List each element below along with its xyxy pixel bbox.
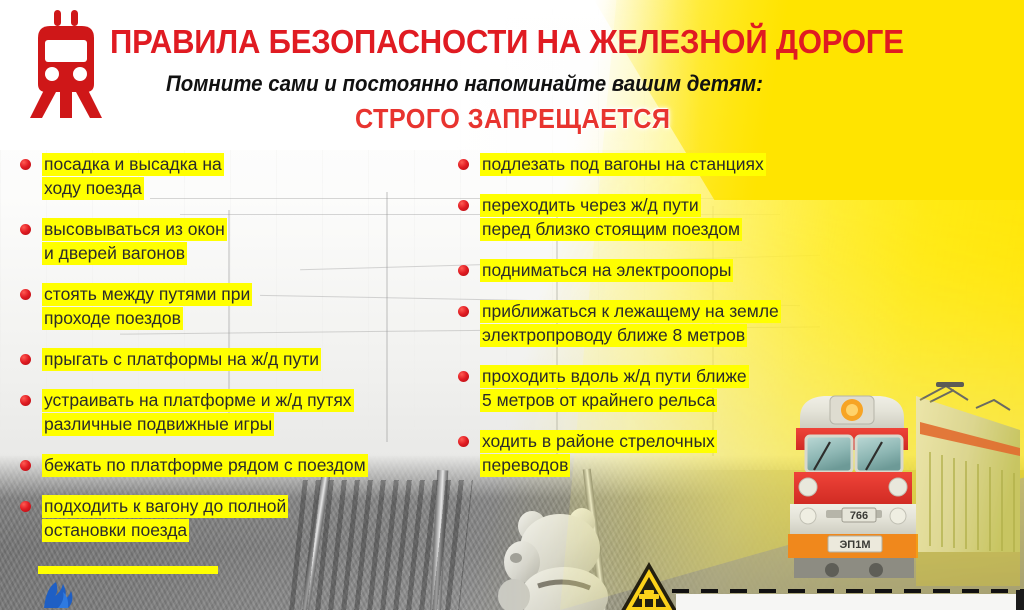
rule-text-line: перед близко стоящим поездом — [480, 217, 872, 241]
rule-text-highlight: ходу поезда — [42, 177, 144, 200]
rules-area: посадка и высадка находу поездавысовыват… — [0, 152, 1024, 592]
rule-text-line: переводов — [480, 453, 872, 477]
bullet-icon — [458, 371, 469, 382]
rule-text-highlight: и дверей вагонов — [42, 242, 187, 265]
rule-text-line: стоять между путями при — [42, 282, 454, 306]
rule-text-highlight: прыгать с платформы на ж/д пути — [42, 348, 321, 371]
prohibition-banner: СТРОГО ЗАПРЕЩАЕТСЯ — [355, 102, 670, 136]
rule-item: посадка и высадка находу поезда — [14, 152, 454, 200]
rule-item: переходить через ж/д путиперед близко ст… — [452, 193, 872, 241]
rule-text-line: устраивать на платформе и ж/д путях — [42, 388, 454, 412]
rule-text-highlight: посадка и высадка на — [42, 153, 224, 176]
rule-text-line: высовываться из окон — [42, 217, 454, 241]
rule-item: высовываться из окони дверей вагонов — [14, 217, 454, 265]
railway-crossing-warning-triangle-icon — [618, 560, 680, 610]
rule-text-highlight: бежать по платформе рядом с поездом — [42, 454, 368, 477]
rule-text-line: подлезать под вагоны на станциях — [480, 152, 872, 176]
rule-text-line: проходить вдоль ж/д пути ближе — [480, 364, 872, 388]
rule-item: проходить вдоль ж/д пути ближе5 метров о… — [452, 364, 872, 412]
rule-item: ходить в районе стрелочныхпереводов — [452, 429, 872, 477]
bullet-icon — [20, 460, 31, 471]
rule-text-highlight: подлезать под вагоны на станциях — [480, 153, 766, 176]
right-edge-marker — [1016, 590, 1024, 610]
bottom-white-strip — [676, 594, 1016, 610]
rule-text-line: посадка и высадка на — [42, 152, 454, 176]
rule-text-highlight: проходе поездов — [42, 307, 183, 330]
rule-text: устраивать на платформе и ж/д путяхразли… — [42, 388, 454, 436]
rule-text-highlight: проходить вдоль ж/д пути ближе — [480, 365, 749, 388]
rule-item: прыгать с платформы на ж/д пути — [14, 347, 454, 371]
organisation-logo-icon — [40, 578, 82, 610]
rule-text-line: ходу поезда — [42, 176, 454, 200]
bullet-icon — [20, 501, 31, 512]
rule-text-highlight: подходить к вагону до полной — [42, 495, 288, 518]
rule-item: подниматься на электроопоры — [452, 258, 872, 282]
rule-text: подходить к вагону до полнойостановки по… — [42, 494, 454, 542]
rule-item: подлезать под вагоны на станциях — [452, 152, 872, 176]
page-subtitle: Помните сами и постоянно напоминайте ваш… — [166, 70, 891, 98]
rule-text-highlight: приближаться к лежащему на земле — [480, 300, 781, 323]
rule-text-line: электропроводу ближе 8 метров — [480, 323, 872, 347]
rule-text-line: бежать по платформе рядом с поездом — [42, 453, 454, 477]
rule-text-highlight: переводов — [480, 454, 570, 477]
bullet-icon — [20, 354, 31, 365]
rule-text: подниматься на электроопоры — [480, 258, 872, 282]
bullet-icon — [458, 306, 469, 317]
rule-text-line: подходить к вагону до полной — [42, 494, 454, 518]
rule-text-highlight: 5 метров от крайнего рельса — [480, 389, 717, 412]
rule-text-highlight: остановки поезда — [42, 519, 189, 542]
rule-text-highlight: высовываться из окон — [42, 218, 227, 241]
rule-text-line: переходить через ж/д пути — [480, 193, 872, 217]
rule-text: проходить вдоль ж/д пути ближе5 метров о… — [480, 364, 872, 412]
rule-text-line: приближаться к лежащему на земле — [480, 299, 872, 323]
rule-text: приближаться к лежащему на землеэлектроп… — [480, 299, 872, 347]
rule-item: приближаться к лежащему на землеэлектроп… — [452, 299, 872, 347]
bullet-icon — [20, 395, 31, 406]
rule-text-highlight: переходить через ж/д пути — [480, 194, 701, 217]
bullet-icon — [20, 289, 31, 300]
rule-item: стоять между путями припроходе поездов — [14, 282, 454, 330]
rule-text-line: остановки поезда — [42, 518, 454, 542]
rule-text: прыгать с платформы на ж/д пути — [42, 347, 454, 371]
rule-text-highlight: ходить в районе стрелочных — [480, 430, 717, 453]
rule-text: ходить в районе стрелочныхпереводов — [480, 429, 872, 477]
safety-poster: 766 ЭП1М — [0, 0, 1024, 610]
dashed-divider — [672, 589, 1024, 593]
rule-text-line: подниматься на электроопоры — [480, 258, 872, 282]
rule-text-highlight: подниматься на электроопоры — [480, 259, 733, 282]
rule-text-highlight: стоять между путями при — [42, 283, 252, 306]
rule-item: подходить к вагону до полнойостановки по… — [14, 494, 454, 542]
header: ПРАВИЛА БЕЗОПАСНОСТИ НА ЖЕЛЕЗНОЙ ДОРОГЕ … — [0, 0, 1024, 150]
bottom-yellow-highlight-tail — [38, 566, 218, 574]
bullet-icon — [458, 200, 469, 211]
rule-text-line: прыгать с платформы на ж/д пути — [42, 347, 454, 371]
bullet-icon — [458, 436, 469, 447]
train-front-icon — [14, 8, 118, 120]
rule-text: стоять между путями припроходе поездов — [42, 282, 454, 330]
rules-column-right: подлезать под вагоны на станцияхпереходи… — [452, 152, 872, 494]
rule-text: бежать по платформе рядом с поездом — [42, 453, 454, 477]
rule-item: бежать по платформе рядом с поездом — [14, 453, 454, 477]
page-title: ПРАВИЛА БЕЗОПАСНОСТИ НА ЖЕЛЕЗНОЙ ДОРОГЕ — [110, 22, 965, 62]
rule-text-highlight: устраивать на платформе и ж/д путях — [42, 389, 354, 412]
rule-text-line: и дверей вагонов — [42, 241, 454, 265]
rule-text-highlight: перед близко стоящим поездом — [480, 218, 742, 241]
rule-item: устраивать на платформе и ж/д путяхразли… — [14, 388, 454, 436]
rule-text-line: 5 метров от крайнего рельса — [480, 388, 872, 412]
rule-text-line: различные подвижные игры — [42, 412, 454, 436]
rule-text: высовываться из окони дверей вагонов — [42, 217, 454, 265]
rule-text-highlight: различные подвижные игры — [42, 413, 274, 436]
rule-text-highlight: электропроводу ближе 8 метров — [480, 324, 747, 347]
bullet-icon — [458, 265, 469, 276]
rule-text: подлезать под вагоны на станциях — [480, 152, 872, 176]
rule-text-line: ходить в районе стрелочных — [480, 429, 872, 453]
bullet-icon — [20, 159, 31, 170]
rule-text-line: проходе поездов — [42, 306, 454, 330]
bullet-icon — [20, 224, 31, 235]
rules-column-left: посадка и высадка находу поездавысовыват… — [14, 152, 454, 559]
rule-text: посадка и высадка находу поезда — [42, 152, 454, 200]
bullet-icon — [458, 159, 469, 170]
rule-text: переходить через ж/д путиперед близко ст… — [480, 193, 872, 241]
